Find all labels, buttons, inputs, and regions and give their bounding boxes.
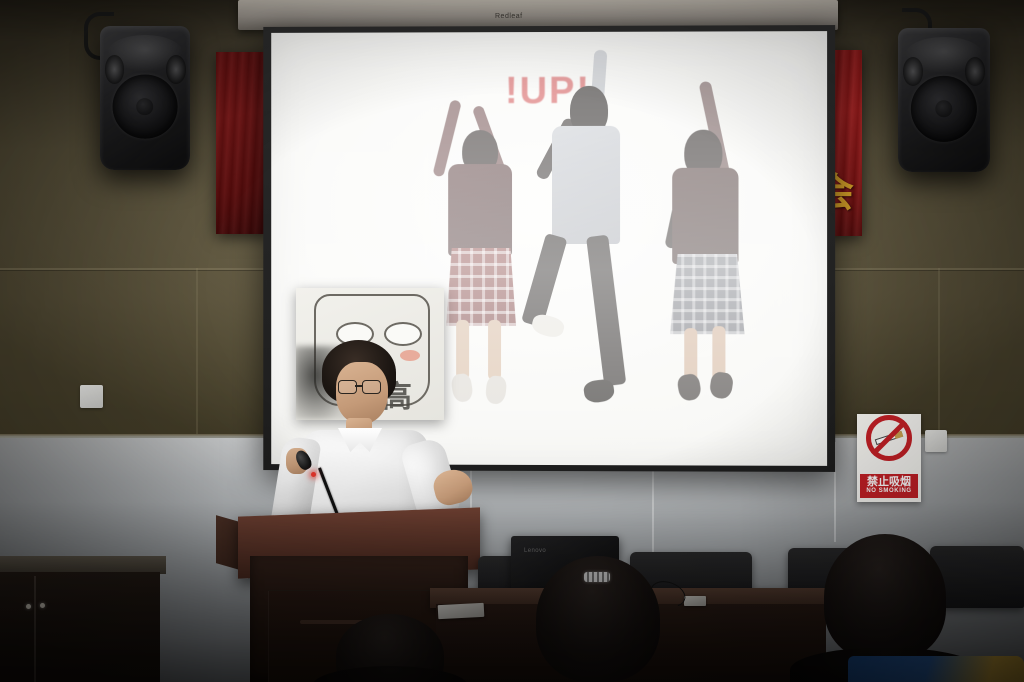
figure-shoe-right (709, 371, 735, 400)
glasses-lens-right (362, 380, 381, 394)
figure-skirt (670, 254, 744, 334)
cabinet-door-divider (34, 576, 36, 682)
audience-head-right (824, 534, 946, 660)
wall-outlet-plate[interactable] (925, 430, 947, 452)
hair-clip (584, 572, 610, 582)
cabinet-knob-right[interactable] (40, 603, 45, 608)
speaker-horn-right (166, 55, 186, 84)
figure-torso-hoodie (552, 126, 620, 244)
screen-brand-label: Redleaf (495, 13, 523, 20)
microphone-led-indicator (311, 472, 316, 477)
no-smoking-sign: 禁止吸烟 NO SMOKING (857, 414, 921, 502)
figure-torso (448, 164, 512, 256)
figure-leg-right (586, 235, 626, 387)
figure-skirt (446, 248, 516, 326)
figure-shoe-left (676, 373, 702, 402)
figure-shoe-right (583, 378, 616, 404)
wall-vseam-right (938, 268, 940, 436)
pa-speaker-left (100, 26, 190, 170)
speaker-horn-left (903, 57, 923, 86)
paper-on-table[interactable] (684, 596, 706, 606)
figure-shoe-left (530, 312, 566, 340)
laptop-brand-logo: Lenovo (524, 548, 546, 554)
slide-figure-right (648, 71, 765, 422)
figure-leg-left (521, 233, 567, 327)
figure-torso (672, 168, 738, 264)
cabinet-knob-left[interactable] (26, 604, 31, 609)
no-smoking-english: NO SMOKING (860, 488, 918, 495)
slide-figure-center (526, 44, 642, 445)
speaker-horn-left (105, 55, 125, 84)
speaker-woofer (113, 74, 178, 139)
speaker-woofer (911, 76, 977, 142)
no-smoking-chinese: 禁止吸烟 (860, 476, 918, 488)
lecture-hall-photo: 会 Redleaf !UP! (0, 0, 1024, 682)
pa-speaker-right (898, 28, 990, 172)
cabinet-body[interactable] (0, 572, 160, 682)
light-switch[interactable] (80, 385, 103, 408)
wall-vseam-left (196, 268, 198, 436)
glasses-lens-left (338, 380, 357, 394)
no-smoking-text-band: 禁止吸烟 NO SMOKING (860, 474, 918, 498)
audience-chair-blue[interactable] (848, 656, 1024, 682)
speaker-horn-right (965, 57, 985, 86)
paper-on-podium[interactable] (438, 603, 485, 619)
glasses-bridge (355, 385, 362, 387)
